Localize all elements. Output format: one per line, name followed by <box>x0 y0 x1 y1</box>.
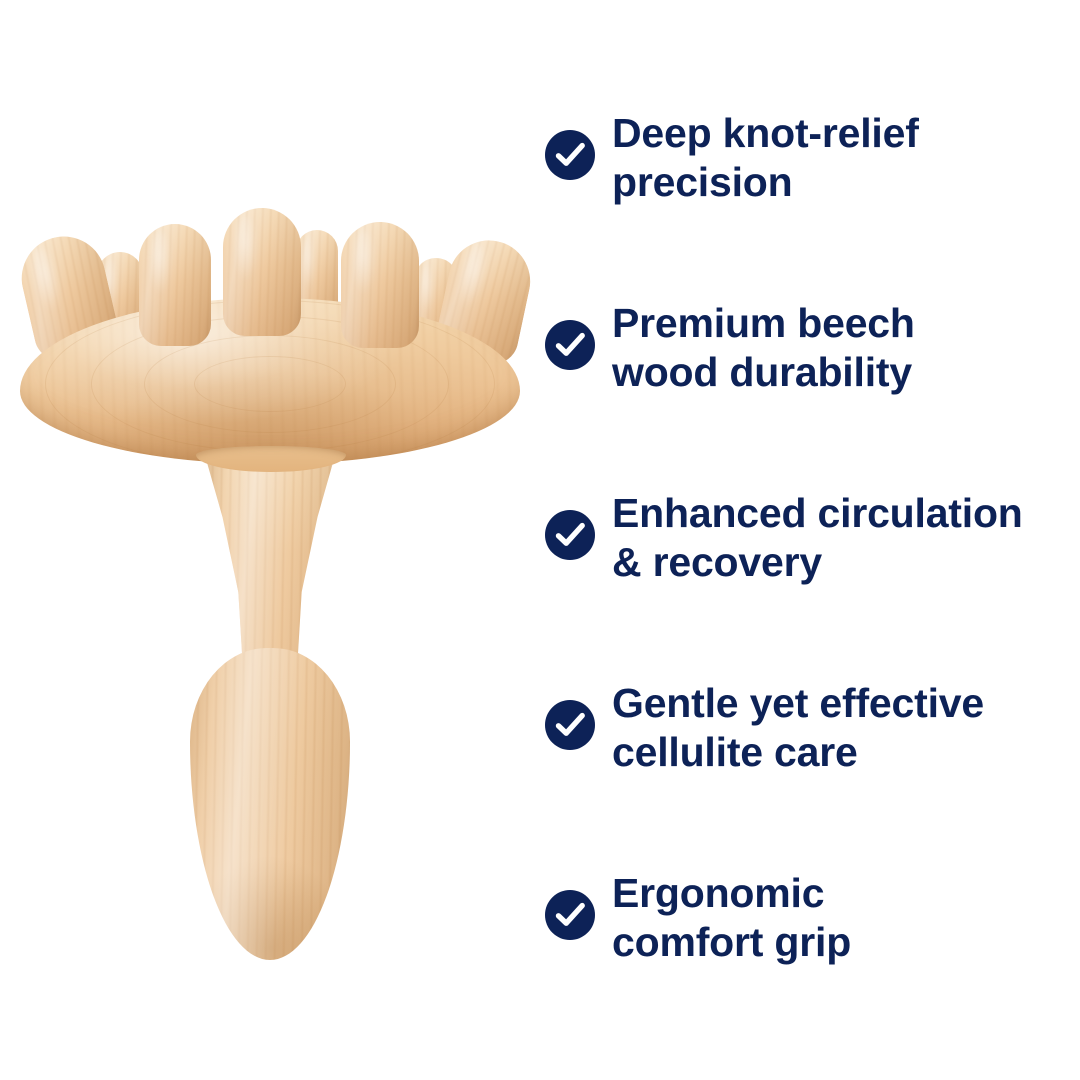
product-feature-card: Deep knot-relief precision Premium beech… <box>0 0 1080 1080</box>
feature-item-3: Enhanced circulation & recovery <box>545 476 1065 666</box>
check-circle-icon <box>545 320 595 370</box>
check-circle-icon <box>545 890 595 940</box>
feature-label: Gentle yet effective cellulite care <box>612 666 984 777</box>
feature-item-2: Premium beech wood durability <box>545 286 1065 476</box>
handle-grip-bulb <box>190 648 350 960</box>
massage-nub-front-right <box>341 222 419 348</box>
product-image <box>0 0 540 1080</box>
massage-nub-front-left <box>139 224 211 346</box>
check-circle-icon <box>545 130 595 180</box>
check-circle-icon <box>545 700 595 750</box>
feature-label: Premium beech wood durability <box>612 286 915 397</box>
feature-list: Deep knot-relief precision Premium beech… <box>545 96 1065 1046</box>
feature-item-1: Deep knot-relief precision <box>545 96 1065 286</box>
massage-nub-front-center <box>223 208 301 336</box>
feature-label: Deep knot-relief precision <box>612 96 919 207</box>
feature-label: Ergonomic comfort grip <box>612 856 851 967</box>
check-circle-icon <box>545 510 595 560</box>
feature-item-4: Gentle yet effective cellulite care <box>545 666 1065 856</box>
massager-handle <box>186 452 354 960</box>
feature-item-5: Ergonomic comfort grip <box>545 856 1065 1046</box>
feature-label: Enhanced circulation & recovery <box>612 476 1023 587</box>
